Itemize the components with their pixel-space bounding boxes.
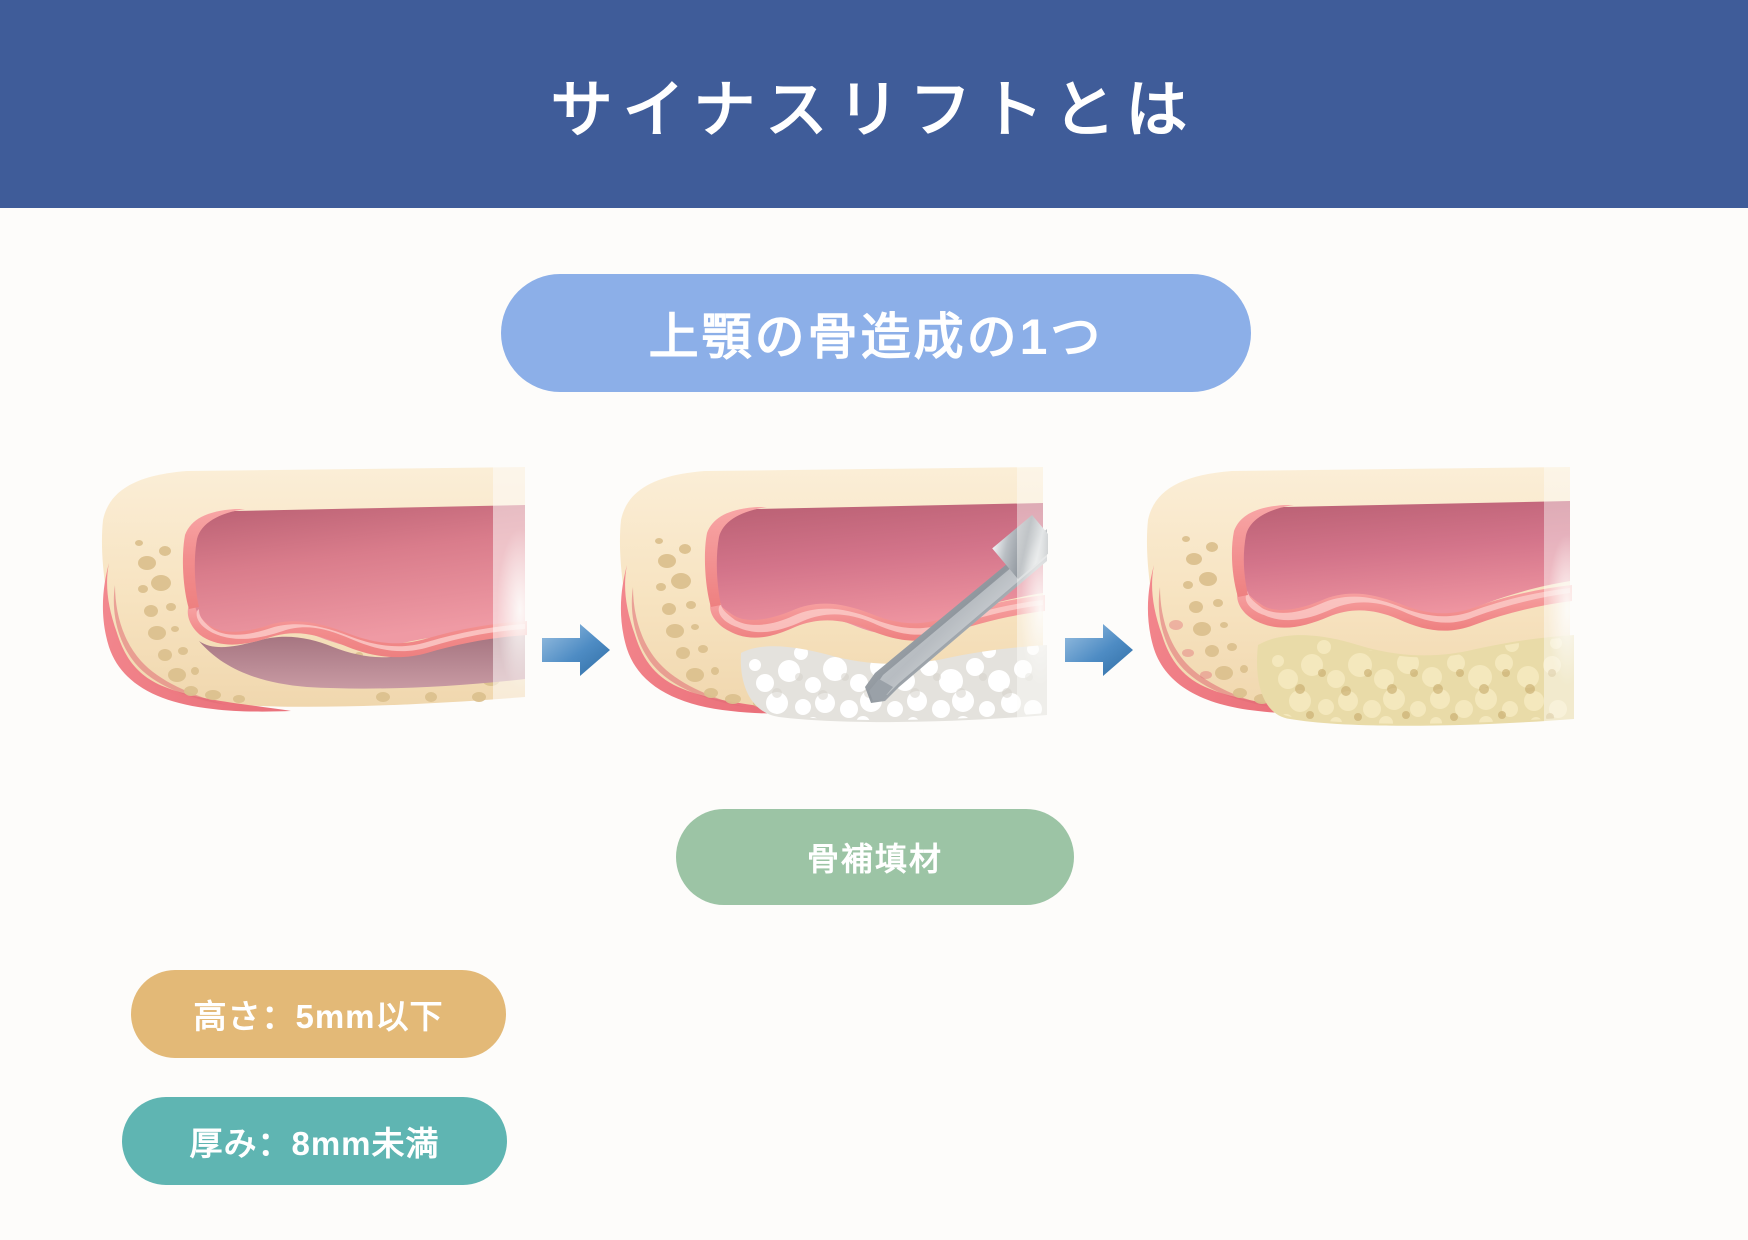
graft-material-pill: 骨補填材 xyxy=(676,809,1074,905)
subtitle-pill-label: 上顎の骨造成の1つ xyxy=(649,297,1104,369)
subtitle-pill: 上顎の骨造成の1つ xyxy=(501,274,1251,392)
thickness-criterion-label: 厚み：8mm未満 xyxy=(189,1117,439,1165)
illustration-step-2-graft-placement xyxy=(613,465,1048,755)
process-arrow-1 xyxy=(540,621,612,679)
graft-placement-svg xyxy=(613,465,1048,755)
illustration-step-1-sinus-before xyxy=(95,465,530,755)
sinus-before-svg xyxy=(95,465,530,755)
illustration-step-3-bone-regenerated xyxy=(1140,465,1575,755)
bone-regenerated-svg xyxy=(1140,465,1575,755)
graft-material-label: 骨補填材 xyxy=(807,834,943,880)
thickness-criterion-pill: 厚み：8mm未満 xyxy=(122,1097,507,1185)
page-header: サイナスリフトとは xyxy=(0,0,1748,208)
infographic-page: サイナスリフトとは 上顎の骨造成の1つ xyxy=(0,0,1748,1240)
page-title: サイナスリフトとは xyxy=(551,59,1198,149)
height-criterion-pill: 高さ：5mm以下 xyxy=(131,970,506,1058)
arrow-right-icon xyxy=(540,621,612,679)
height-criterion-label: 高さ：5mm以下 xyxy=(193,990,443,1038)
arrow-right-icon xyxy=(1063,621,1135,679)
process-arrow-2 xyxy=(1063,621,1135,679)
